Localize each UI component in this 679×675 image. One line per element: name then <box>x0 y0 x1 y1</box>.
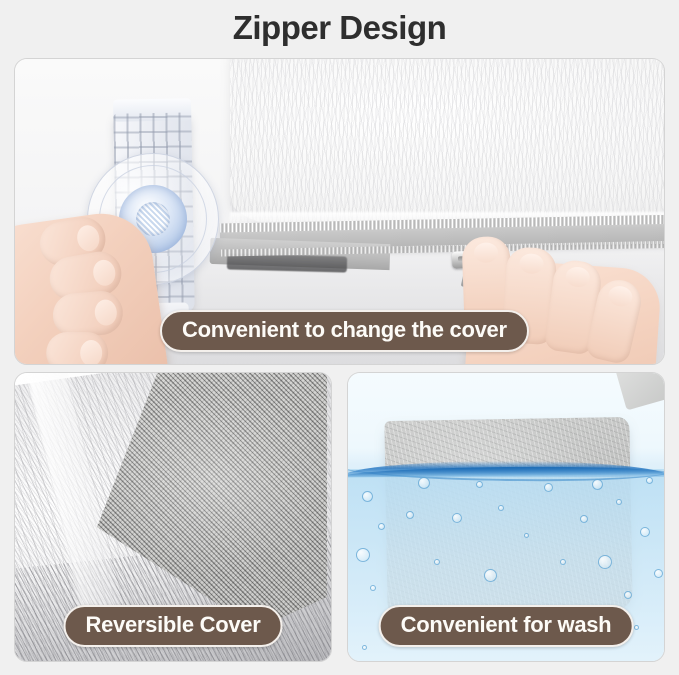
fingernail <box>519 253 544 275</box>
bubble <box>370 585 376 591</box>
bubble <box>378 523 385 530</box>
bubble <box>640 527 650 537</box>
fingernail <box>94 299 118 327</box>
disc-core-mesh <box>136 202 170 236</box>
bubble <box>654 569 663 578</box>
bubble <box>592 479 603 490</box>
fingernail <box>75 223 102 253</box>
fingernail <box>91 258 117 287</box>
plush-blanket <box>230 59 664 226</box>
badge-reversible-cover: Reversible Cover <box>64 605 283 647</box>
bubble <box>616 499 622 505</box>
bubble <box>356 548 370 562</box>
bubble <box>362 491 373 502</box>
bubble <box>434 559 440 565</box>
fingernail <box>474 242 499 263</box>
bubble <box>418 477 430 489</box>
plush-fur-texture <box>230 59 664 226</box>
bubble <box>362 645 367 650</box>
bubble <box>580 515 588 523</box>
fingernail <box>80 340 102 364</box>
header: Zipper Design <box>0 0 679 56</box>
panel-convenient-for-wash[interactable]: Convenient for wash <box>347 372 665 662</box>
fingernail <box>565 265 592 288</box>
badge-convenient-to-change-the-cover: Convenient to change the cover <box>160 310 529 352</box>
badge-convenient-for-wash: Convenient for wash <box>379 605 634 647</box>
zipper-open-gap <box>227 253 347 272</box>
bubble <box>646 477 653 484</box>
page-title: Zipper Design <box>233 9 447 47</box>
bubble <box>484 569 497 582</box>
bubble <box>452 513 462 523</box>
panel-zipper-change-cover[interactable]: Convenient to change the cover <box>14 58 665 365</box>
bubble <box>560 559 566 565</box>
panel-reversible-cover[interactable]: Reversible Cover <box>14 372 332 662</box>
bubble <box>524 533 529 538</box>
left-finger-4 <box>46 332 108 364</box>
fingernail <box>606 284 634 309</box>
bubble <box>634 625 639 630</box>
bubble <box>406 511 414 519</box>
bubble <box>476 481 483 488</box>
bubble <box>598 555 612 569</box>
bubble <box>544 483 553 492</box>
bubble <box>624 591 632 599</box>
bubble <box>498 505 504 511</box>
